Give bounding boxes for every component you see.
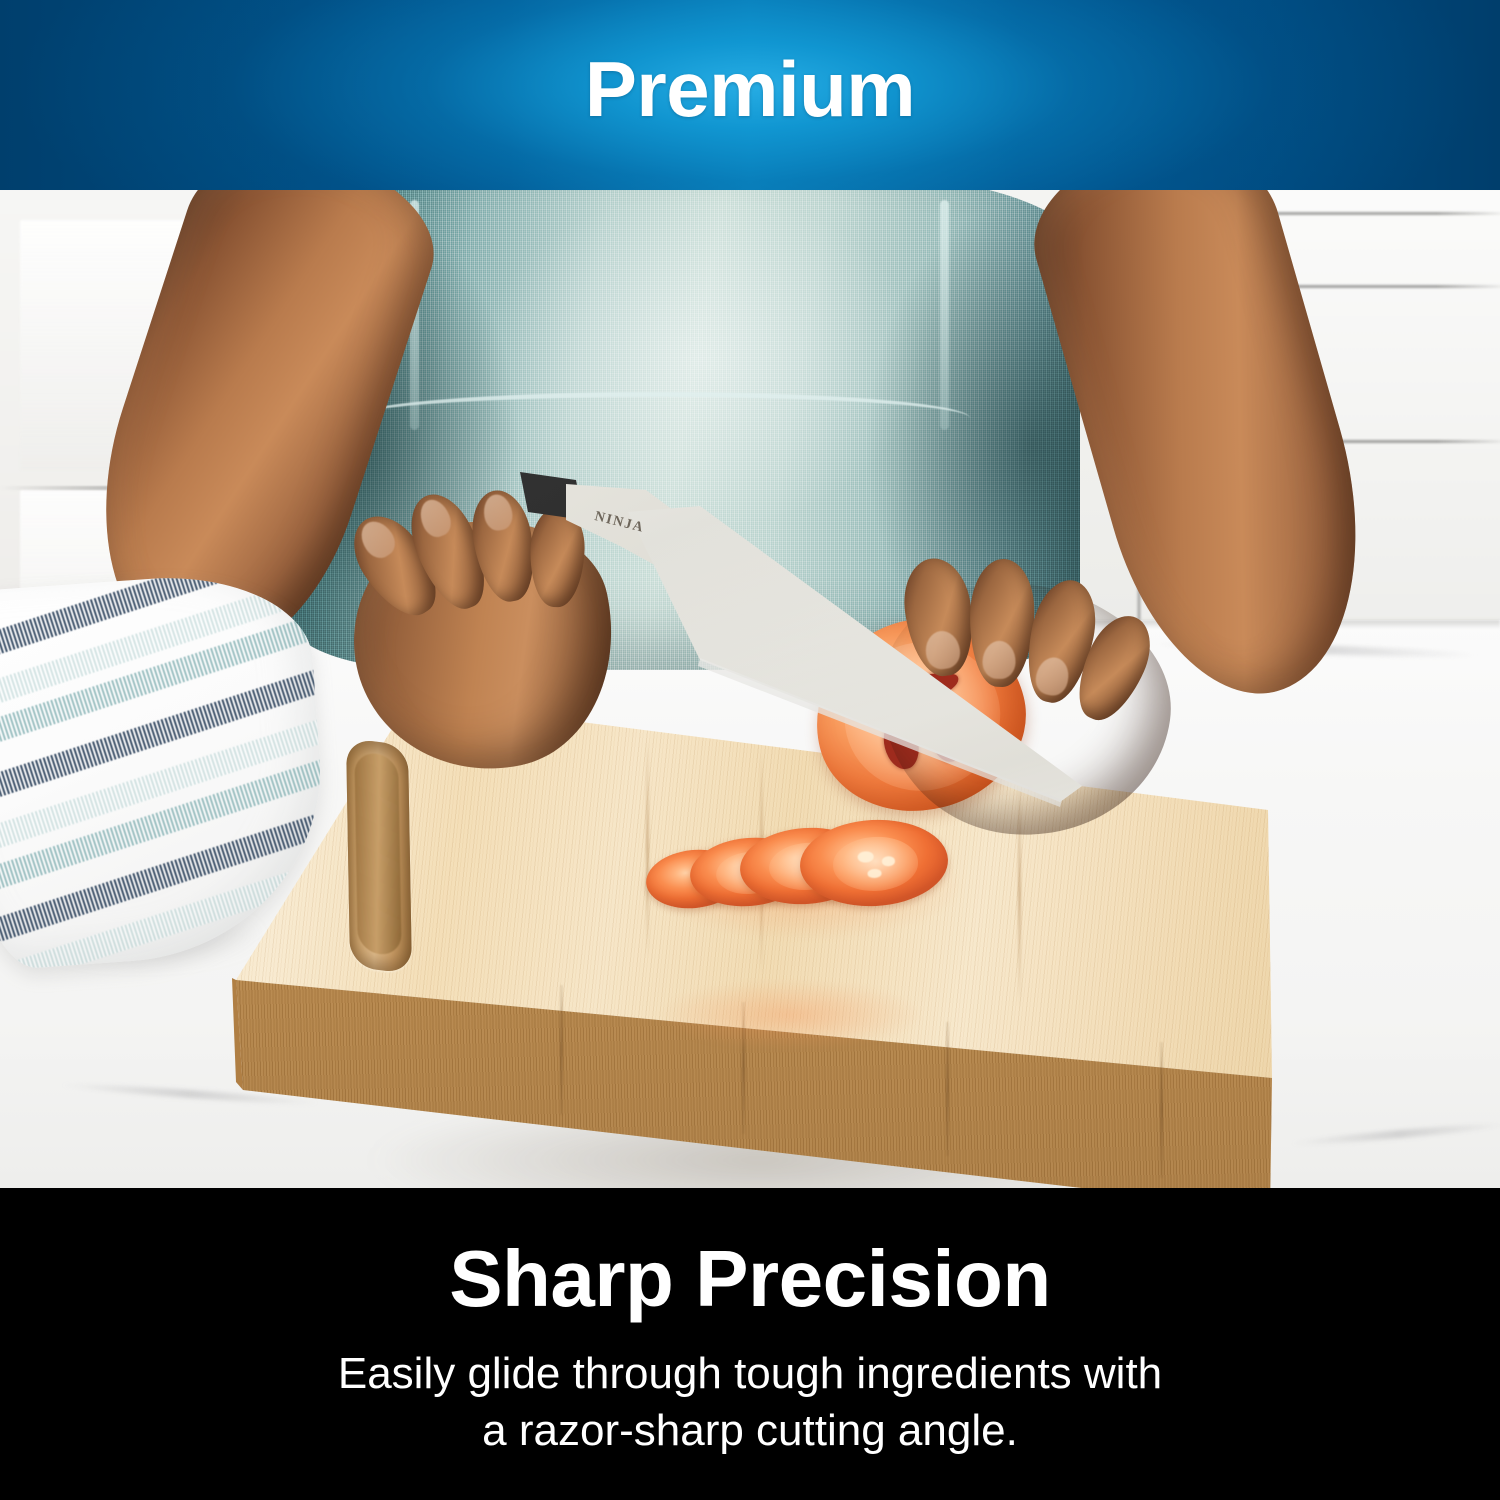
caption-subtitle-line-2: a razor-sharp cutting angle. [0,1402,1500,1459]
knife-bolster [0,190,1500,1188]
banner-title: Premium [0,50,1500,128]
product-feature-card: Premium [0,0,1500,1500]
knife-handle [0,190,1500,1188]
knife-cutting-edge [0,190,1500,1188]
caption-subtitle: Easily glide through tough ingredients w… [0,1345,1500,1459]
caption-band: Sharp Precision Easily glide through tou… [0,1188,1500,1500]
caption-title: Sharp Precision [0,1239,1500,1319]
product-photo: NINJA [0,190,1500,1188]
premium-banner: Premium [0,0,1500,190]
caption-subtitle-line-1: Easily glide through tough ingredients w… [0,1345,1500,1402]
knife-blade-reflection [0,190,1500,1188]
knife-blade [0,190,1500,1188]
chef-knife: NINJA [0,190,1500,1188]
